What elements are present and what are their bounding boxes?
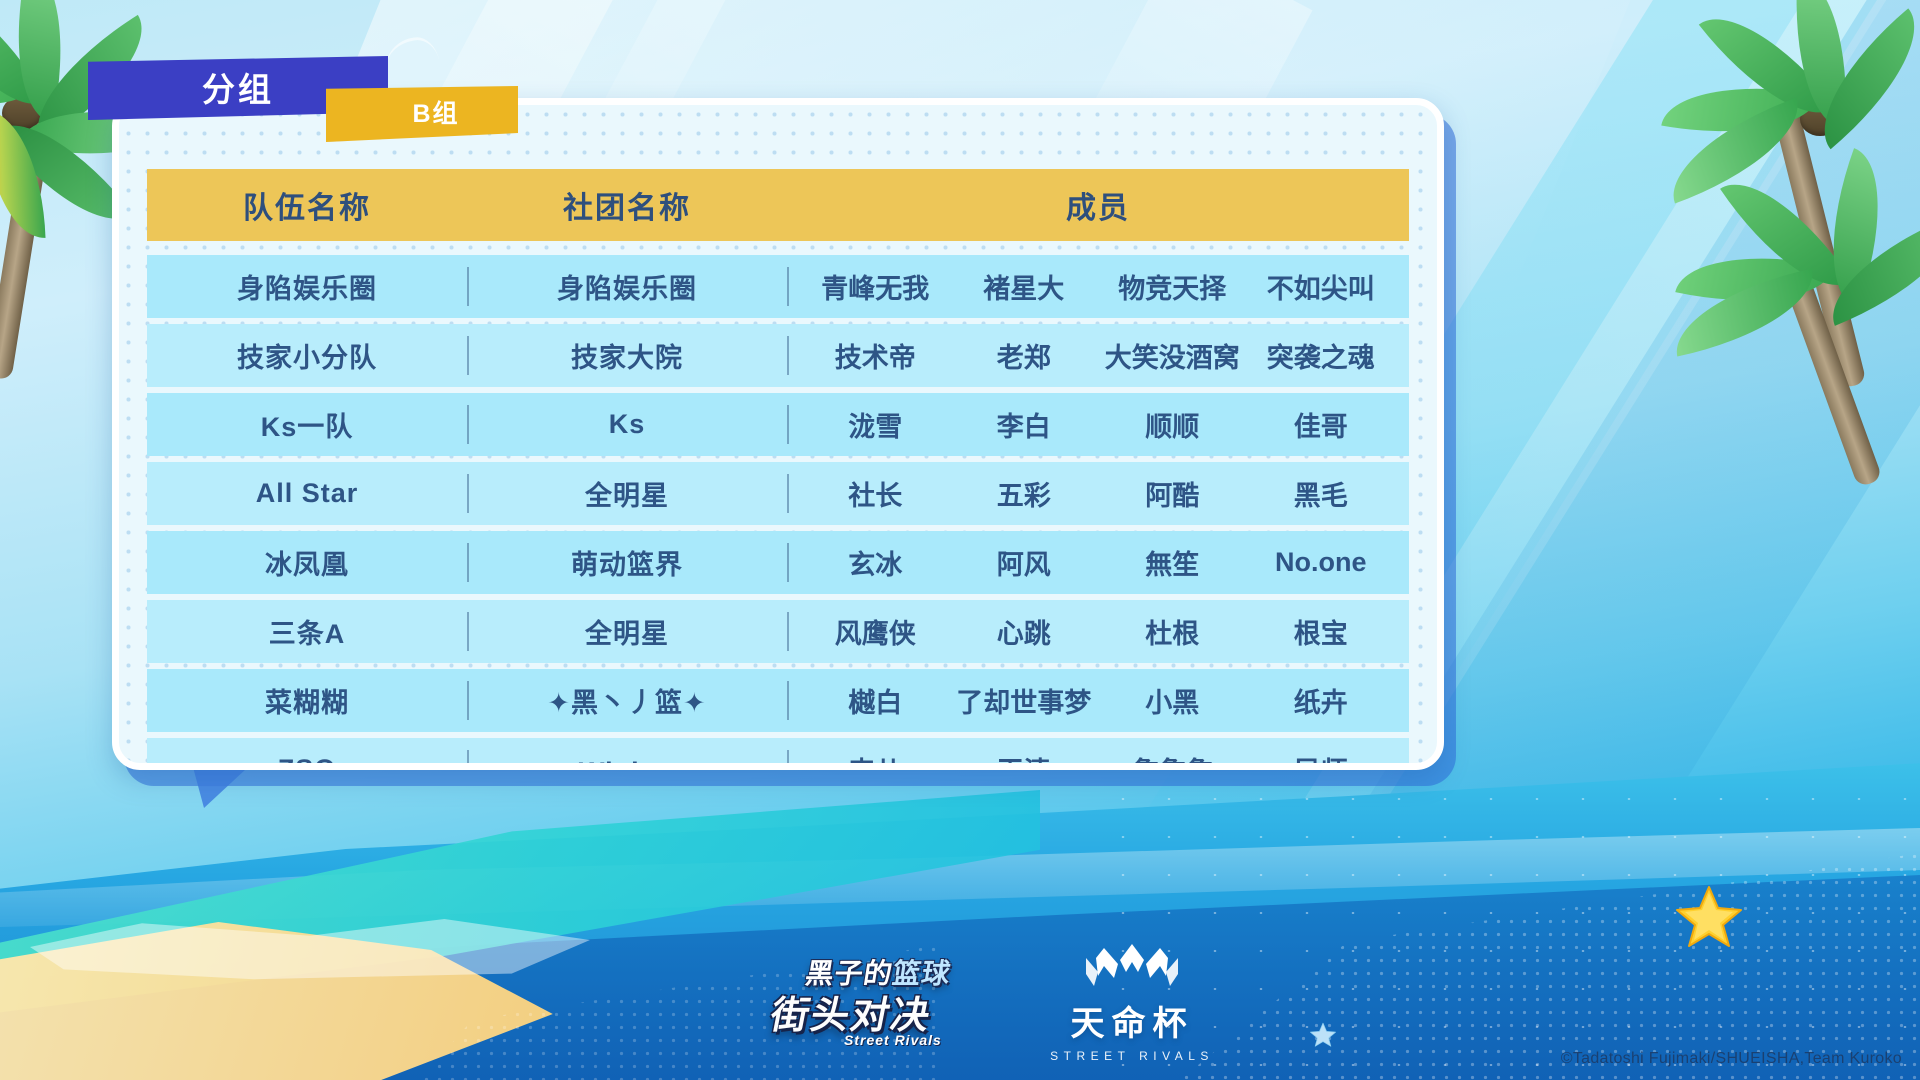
member-name: 技术帝: [801, 336, 950, 375]
column-header-club: 社团名称: [467, 183, 787, 227]
table-row[interactable]: 三条A 全明星 风鹰侠 心跳 杜根 根宝: [147, 600, 1409, 663]
member-name: 社长: [801, 474, 950, 513]
cell-team-name: ZSQ: [147, 754, 467, 770]
cup-logo-name: 天命杯: [1032, 996, 1232, 1045]
kuroko-basketball-logo: 黑子的篮球 街头对决 Street Rivals: [770, 948, 970, 1058]
column-divider: [467, 612, 469, 651]
column-divider: [467, 750, 469, 770]
column-divider: [787, 474, 789, 513]
column-divider: [787, 681, 789, 720]
column-divider: [467, 543, 469, 582]
kuroko-logo-line2: 街头对决: [767, 984, 938, 1039]
member-name: 小黑: [1098, 681, 1247, 720]
member-name: 风鹰侠: [801, 612, 950, 651]
column-header-team: 队伍名称: [147, 183, 467, 227]
member-name: 阿酷: [1098, 474, 1247, 513]
member-name: 不如尖叫: [1247, 267, 1396, 306]
cell-team-name: All Star: [147, 478, 467, 509]
cell-members: 樾白 了却世事梦 小黑 纸卉: [787, 681, 1409, 720]
member-name: 無笙: [1098, 543, 1247, 582]
member-name: 心跳: [950, 612, 1099, 651]
cell-club-name: 技家大院: [467, 336, 787, 375]
column-divider: [467, 267, 469, 306]
member-name: 顺顺: [1098, 405, 1247, 444]
cell-members: 玄冰 阿风 無笙 No.one: [787, 543, 1409, 582]
cell-team-name: 身陷娱乐圈: [147, 267, 467, 306]
column-divider: [467, 474, 469, 513]
cell-team-name: 菜糊糊: [147, 681, 467, 720]
cell-club-name: 全明星: [467, 474, 787, 513]
member-name: 李白: [950, 405, 1099, 444]
member-name: 森儿: [801, 750, 950, 770]
member-name: 五彩: [950, 474, 1099, 513]
member-name: 根宝: [1247, 612, 1396, 651]
member-name: 詹詹詹: [1098, 750, 1247, 770]
table-row[interactable]: All Star 全明星 社长 五彩 阿酷 黑毛: [147, 462, 1409, 525]
member-name: 青峰无我: [801, 267, 950, 306]
cell-team-name: 技家小分队: [147, 336, 467, 375]
member-name: 老郑: [950, 336, 1099, 375]
cell-team-name: Ks一队: [147, 405, 467, 444]
member-name: 物竞天择: [1098, 267, 1247, 306]
member-name: 樾白: [801, 681, 950, 720]
cell-members: 社长 五彩 阿酷 黑毛: [787, 474, 1409, 513]
column-divider: [467, 336, 469, 375]
member-name: 泷雪: [801, 405, 950, 444]
table-row[interactable]: 身陷娱乐圈 身陷娱乐圈 青峰无我 褚星大 物竞天择 不如尖叫: [147, 255, 1409, 318]
table-row[interactable]: 菜糊糊 ✦黑丶丿篮✦ 樾白 了却世事梦 小黑 纸卉: [147, 669, 1409, 732]
column-header-members: 成员: [787, 183, 1409, 227]
member-name: 突袭之魂: [1247, 336, 1396, 375]
column-divider: [787, 543, 789, 582]
cell-team-name: 冰凤凰: [147, 543, 467, 582]
member-name: 褚星大: [950, 267, 1099, 306]
column-divider: [467, 405, 469, 444]
column-divider: [787, 267, 789, 306]
member-name: 大笑没酒窝: [1098, 336, 1247, 375]
group-panel: 队伍名称 社团名称 成员 身陷娱乐圈 身陷娱乐圈 青峰无我 褚星大 物: [112, 98, 1444, 770]
member-name: 了却世事梦: [950, 681, 1099, 720]
cell-members: 技术帝 老郑 大笑没酒窝 突袭之魂: [787, 336, 1409, 375]
table-row[interactable]: Ks一队 Ks 泷雪 李白 顺顺 佳哥: [147, 393, 1409, 456]
kuroko-logo-line3: Street Rivals: [844, 1032, 942, 1048]
copyright-text: ©Tadatoshi Fujimaki/SHUEISHA,Team Kuroko: [1561, 1050, 1902, 1068]
cell-club-name: Ks: [467, 409, 787, 440]
column-divider: [787, 750, 789, 770]
cell-club-name: Wink丶: [467, 750, 787, 770]
cup-logo-subtitle: STREET RIVALS: [1032, 1049, 1232, 1063]
cup-crown-icon: [1032, 942, 1232, 994]
column-divider: [787, 405, 789, 444]
tianming-cup-logo: 天命杯 STREET RIVALS: [1032, 942, 1232, 1062]
cell-club-name: ✦黑丶丿篮✦: [467, 681, 787, 720]
column-divider: [787, 336, 789, 375]
panel-body: 队伍名称 社团名称 成员 身陷娱乐圈 身陷娱乐圈 青峰无我 褚星大 物: [133, 119, 1423, 733]
member-name: 玄冰: [801, 543, 950, 582]
table-body: 身陷娱乐圈 身陷娱乐圈 青峰无我 褚星大 物竞天择 不如尖叫 技家小分队: [147, 255, 1409, 770]
cell-members: 泷雪 李白 顺顺 佳哥: [787, 405, 1409, 444]
footer: 黑子的篮球 街头对决 Street Rivals 天命杯 STREET RIVA…: [0, 920, 1920, 1080]
cell-club-name: 身陷娱乐圈: [467, 267, 787, 306]
table-header-row: 队伍名称 社团名称 成员: [147, 169, 1409, 241]
cell-club-name: 萌动篮界: [467, 543, 787, 582]
member-name: 玉清: [950, 750, 1099, 770]
cell-members: 森儿 玉清 詹詹詹 导师: [787, 750, 1409, 770]
column-divider: [787, 612, 789, 651]
column-divider: [467, 681, 469, 720]
cell-team-name: 三条A: [147, 612, 467, 651]
cell-members: 青峰无我 褚星大 物竞天择 不如尖叫: [787, 267, 1409, 306]
member-name: 阿风: [950, 543, 1099, 582]
member-name: 纸卉: [1247, 681, 1396, 720]
member-name: 杜根: [1098, 612, 1247, 651]
table-row[interactable]: 技家小分队 技家大院 技术帝 老郑 大笑没酒窝 突袭之魂: [147, 324, 1409, 387]
table-row[interactable]: ZSQ Wink丶 森儿 玉清 詹詹詹 导师: [147, 738, 1409, 770]
table-row[interactable]: 冰凤凰 萌动篮界 玄冰 阿风 無笙 No.one: [147, 531, 1409, 594]
cell-members: 风鹰侠 心跳 杜根 根宝: [787, 612, 1409, 651]
member-name: 佳哥: [1247, 405, 1396, 444]
member-name: 导师: [1247, 750, 1396, 770]
member-name: 黑毛: [1247, 474, 1396, 513]
tournament-group-board: 队伍名称 社团名称 成员 身陷娱乐圈 身陷娱乐圈 青峰无我 褚星大 物: [0, 0, 1920, 1080]
cell-club-name: 全明星: [467, 612, 787, 651]
member-name: No.one: [1247, 547, 1396, 578]
group-table: 队伍名称 社团名称 成员 身陷娱乐圈 身陷娱乐圈 青峰无我 褚星大 物: [147, 169, 1409, 770]
